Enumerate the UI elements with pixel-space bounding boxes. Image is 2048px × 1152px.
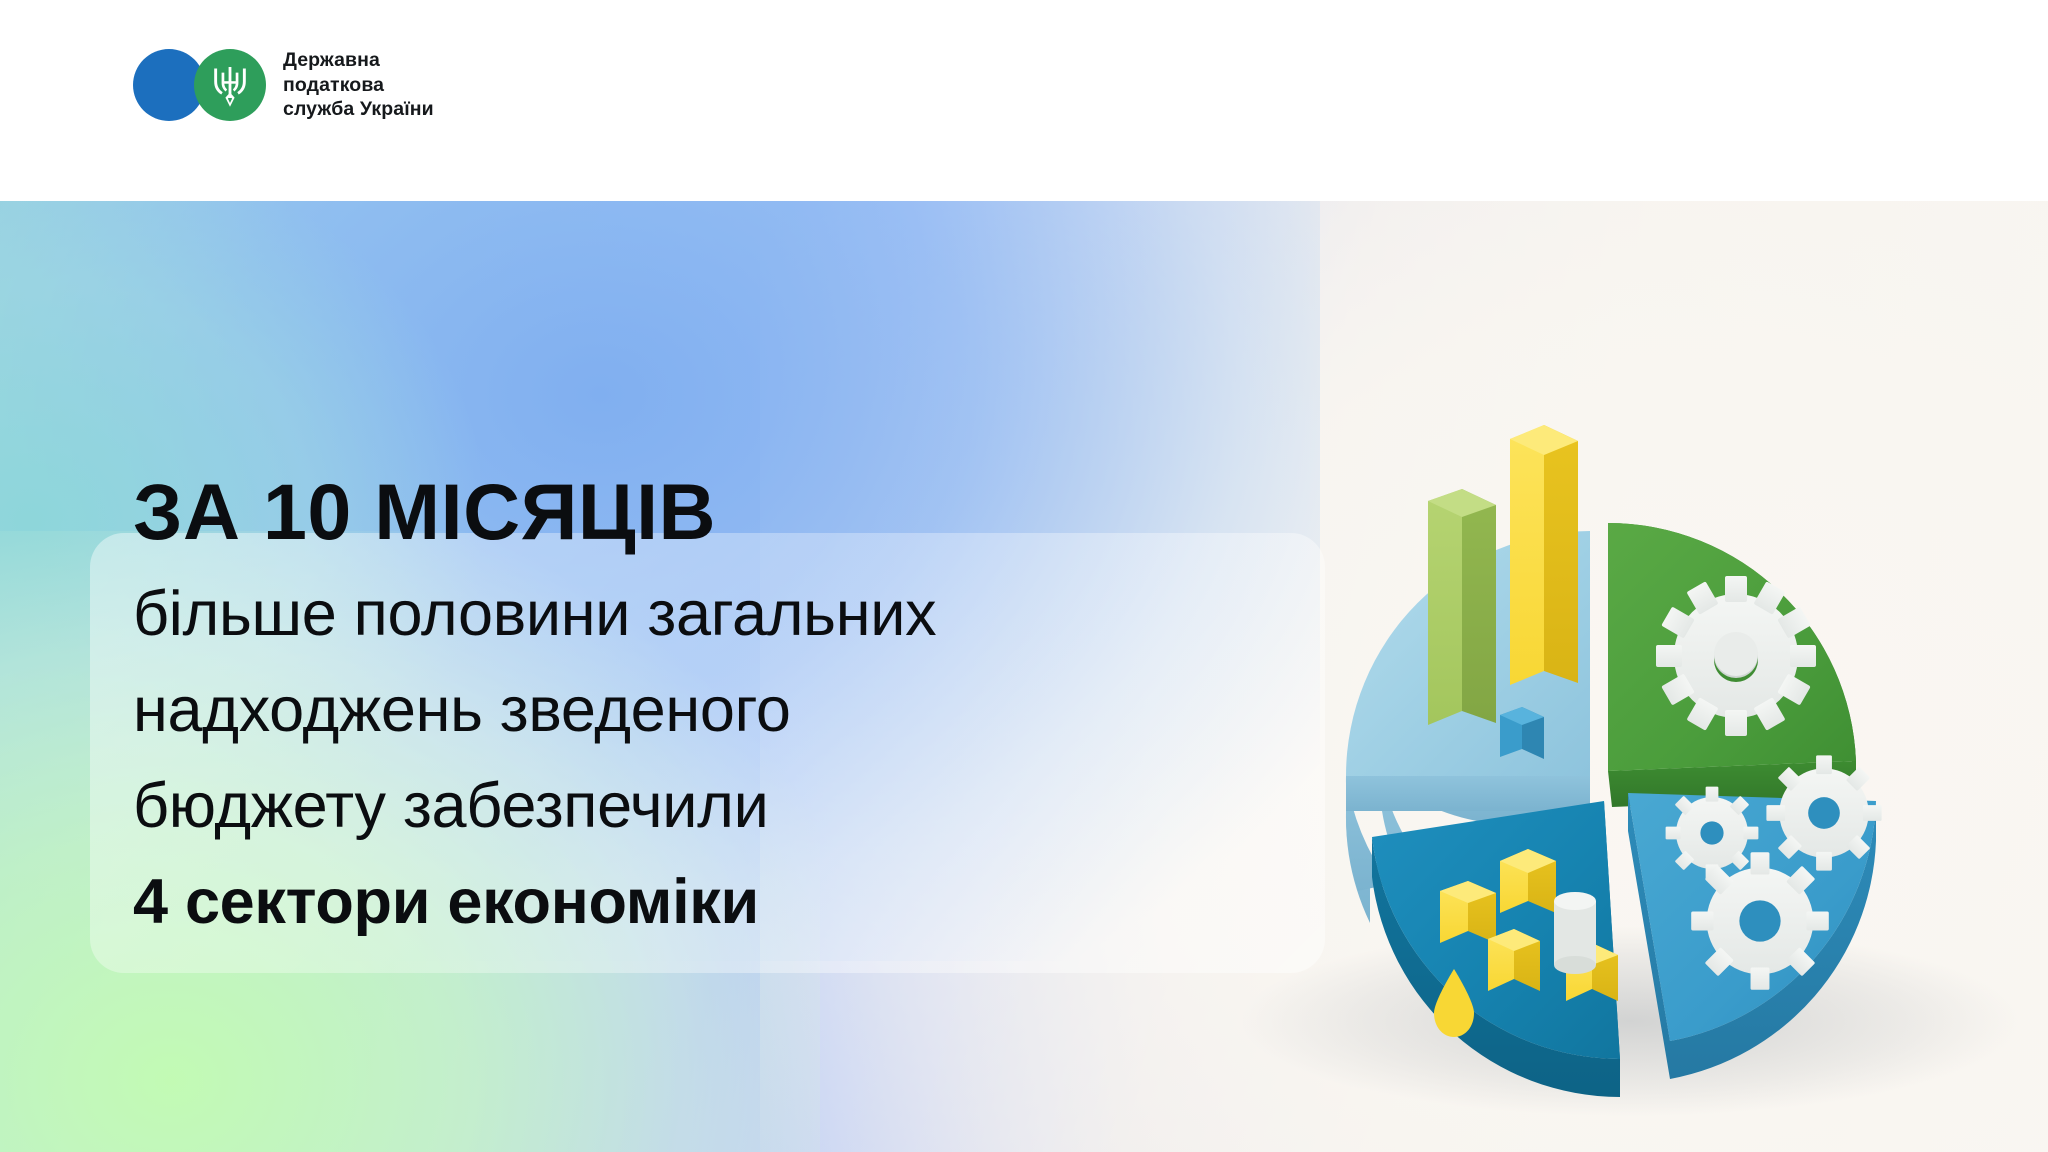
logo-text-line-3: служба України (283, 97, 434, 122)
page-title: ЗА 10 МІСЯЦІВ (133, 468, 716, 556)
body-copy: більше половини загальних надходжень зве… (133, 566, 1313, 950)
infographic-canvas: Державна податкова служба України (0, 0, 2048, 1152)
agency-logo[interactable]: Державна податкова служба України (133, 48, 434, 122)
white-cylinder (1554, 892, 1596, 974)
green-bar-block (1428, 489, 1462, 725)
body-line-4: 4 сектори економіки (133, 854, 1313, 950)
ukraine-trident-icon (194, 49, 266, 121)
agency-logo-text: Державна податкова служба України (283, 48, 434, 122)
body-line-1: більше половини загальних (133, 566, 1313, 662)
header-band: Державна податкова служба України (0, 0, 2048, 201)
body-line-3: бюджету забезпечили (133, 758, 1313, 854)
yellow-bar-block (1510, 425, 1544, 685)
logo-text-line-1: Державна (283, 48, 434, 73)
pie-chart-illustration (1200, 201, 2048, 1152)
logo-mark (133, 49, 265, 121)
main-stage: ЗА 10 МІСЯЦІВ більше половини загальних … (0, 201, 2048, 1152)
body-line-2: надходжень зведеного (133, 662, 1313, 758)
logo-text-line-2: податкова (283, 73, 434, 98)
